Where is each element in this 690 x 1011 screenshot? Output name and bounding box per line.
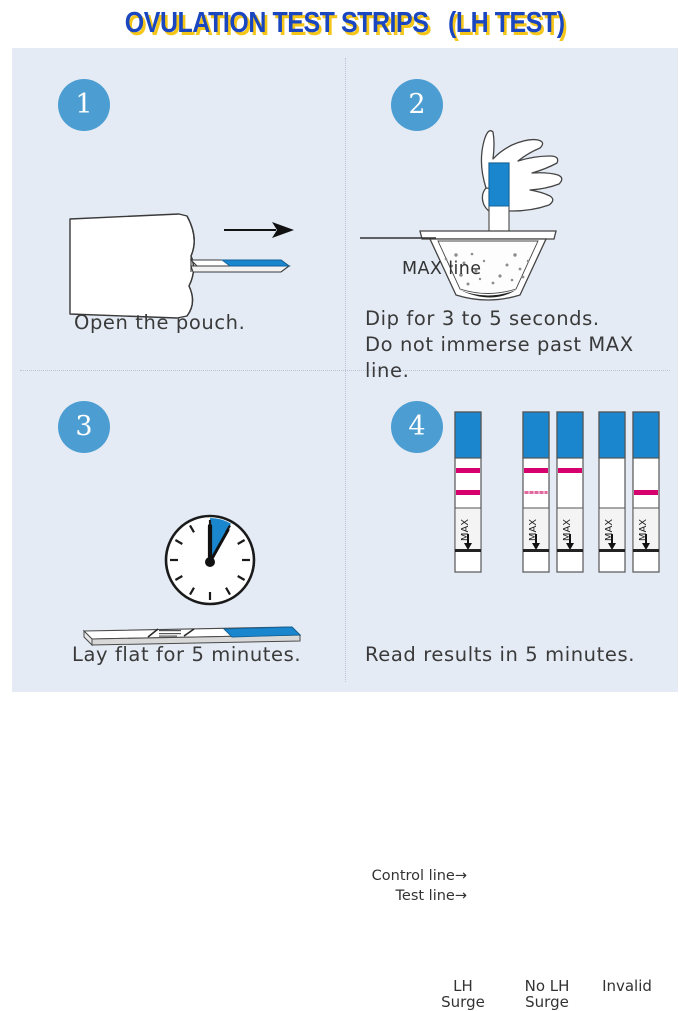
pull-direction-arrow-icon xyxy=(222,218,297,242)
svg-text:MAX: MAX xyxy=(528,519,539,541)
step-number-badge-3: 3 xyxy=(58,401,110,453)
step-panel-4: 4 MAX xyxy=(345,370,678,692)
step-caption-1: Open the pouch. xyxy=(74,310,335,336)
result-group-label-lh-surge: LH Surge xyxy=(435,978,491,1010)
test-line-label: Test line→ xyxy=(347,888,467,904)
step-caption-4: Read results in 5 minutes. xyxy=(365,642,668,668)
result-strip-invalid-test-only: MAX xyxy=(633,412,659,572)
result-strip-no-lh-surge-none: MAX xyxy=(557,412,583,572)
page-title: OVULATION TEST STRIPS (LH TEST) xyxy=(125,7,565,40)
svg-text:MAX: MAX xyxy=(562,519,573,541)
instruction-board: 1 Open the pouch. 2 xyxy=(12,48,678,692)
step-number-badge-1: 1 xyxy=(58,79,110,131)
step-caption-3: Lay flat for 5 minutes. xyxy=(72,642,335,668)
clock-five-minutes-icon xyxy=(160,510,260,610)
control-line-label: Control line→ xyxy=(347,868,467,884)
result-strips-illustration: MAX MAX MAX xyxy=(355,390,665,600)
result-strip-invalid-blank: MAX xyxy=(599,412,625,572)
step-panel-1: 1 Open the pouch. xyxy=(12,48,345,370)
svg-text:MAX: MAX xyxy=(638,519,649,541)
step-panel-2: 2 xyxy=(345,48,678,370)
control-line-text: Control line xyxy=(372,868,455,884)
result-strip-no-lh-surge-faint: MAX xyxy=(523,412,549,572)
result-strip-lh-surge: MAX xyxy=(455,412,481,572)
svg-text:MAX: MAX xyxy=(604,519,615,541)
test-line-arrow-icon: → xyxy=(455,888,467,904)
result-group-label-invalid: Invalid xyxy=(585,978,669,994)
control-line-arrow-icon: → xyxy=(455,868,467,884)
page-title-bar: OVULATION TEST STRIPS (LH TEST) xyxy=(0,0,690,46)
step-panel-3: 3 xyxy=(12,370,345,692)
max-line-annotation: MAX line xyxy=(402,259,481,279)
result-group-label-no-lh-surge: No LH Surge xyxy=(505,978,589,1010)
test-line-text: Test line xyxy=(396,888,455,904)
svg-text:MAX: MAX xyxy=(460,519,471,541)
